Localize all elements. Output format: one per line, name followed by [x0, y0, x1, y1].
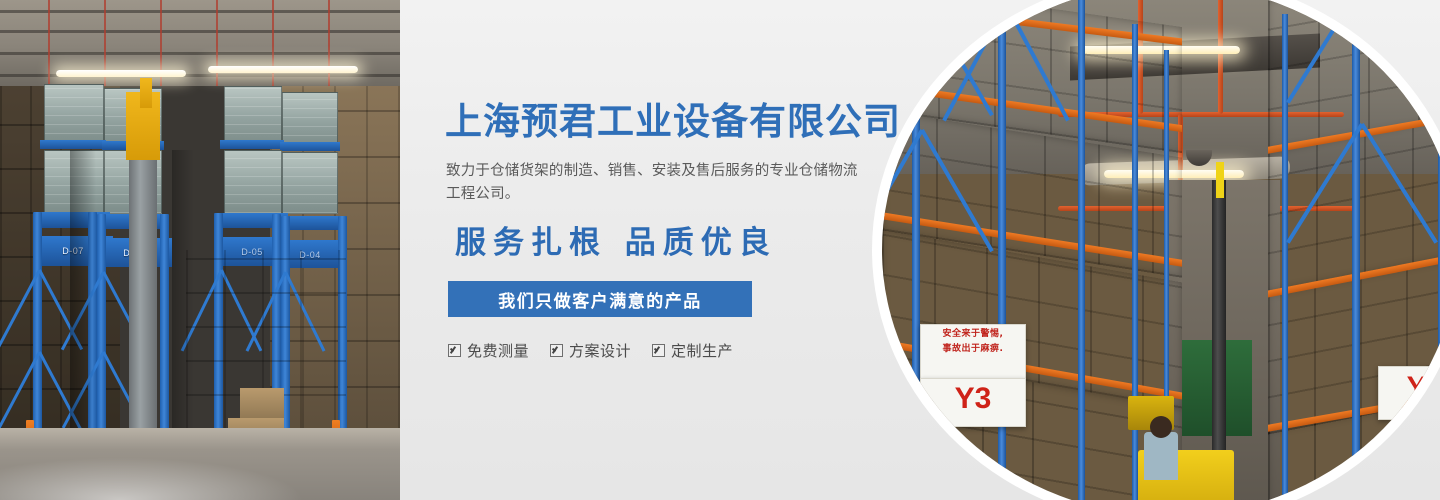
company-slogan: 服务扎根 品质优良	[455, 222, 777, 264]
ceiling-truss	[48, 0, 50, 86]
feature-item-custom-production: 定制生产	[652, 340, 733, 361]
rack-upright	[97, 214, 106, 440]
rack-upright	[33, 212, 42, 442]
feature-item-free-measure: 免费测量	[448, 340, 529, 361]
company-subtitle: 致力于仓储货架的制造、销售、安装及售后服务的专业仓储物流工程公司。	[446, 160, 866, 206]
stacked-crate	[224, 86, 282, 144]
feature-label: 免费测量	[467, 340, 529, 361]
ceiling-truss	[216, 0, 218, 86]
stacked-crate	[282, 92, 338, 146]
left-photo-floor-reflection	[0, 428, 400, 500]
stacker-crane-arm	[140, 78, 152, 108]
stacked-crate	[224, 150, 282, 214]
aisle-shadow	[172, 150, 194, 440]
ceiling-truss	[328, 0, 330, 86]
safety-sign: 安全来于警惕, 事故出于麻痹.	[920, 324, 1026, 380]
ceiling-beam	[0, 30, 400, 33]
forklift-mast	[1212, 180, 1226, 480]
rack-upright	[1078, 0, 1085, 500]
stacked-crate	[282, 152, 338, 214]
aisle-code-y3-right: Y3	[1379, 373, 1440, 403]
feature-list: 免费测量 方案设计 定制生产	[448, 340, 733, 361]
banner-content: 上海预君工业设备有限公司 致力于仓储货架的制造、销售、安装及售后服务的专业仓储物…	[445, 0, 915, 500]
pallet-beam	[280, 142, 340, 151]
forklift-mast-top	[1216, 162, 1224, 198]
checkbox-checked-icon	[652, 344, 665, 357]
aisle-shadow	[70, 150, 96, 440]
forklift-driver-head	[1150, 416, 1172, 438]
sprinkler-riser	[1218, 0, 1223, 114]
safety-sign-line-2: 事故出于麻痹.	[921, 340, 1025, 355]
rack-upright	[1352, 0, 1360, 500]
cta-button[interactable]: 我们只做客户满意的产品	[448, 281, 752, 317]
ceiling-light	[208, 66, 358, 73]
ceiling-beam	[0, 52, 400, 55]
left-warehouse-photo: D-07 D-06 D-05 D-04	[0, 0, 400, 500]
ceiling-truss	[272, 0, 274, 86]
aisle-code-sign: Y3	[920, 378, 1026, 427]
rack-upright	[1282, 14, 1288, 500]
forklift-driver-body	[1144, 432, 1178, 480]
checkbox-checked-icon	[448, 344, 461, 357]
ceiling-beam	[0, 10, 400, 13]
pallet-beam	[40, 140, 106, 149]
feature-label: 方案设计	[569, 340, 631, 361]
safety-sign-line-1: 安全来于警惕,	[921, 325, 1025, 340]
aisle-code-sign-right: Y3	[1378, 366, 1440, 420]
ceiling-light	[56, 70, 186, 77]
right-photo-wrapper: 安全来于警惕, 事故出于麻痹. Y3 Y3	[900, 0, 1440, 500]
feature-item-plan-design: 方案设计	[550, 340, 631, 361]
stacked-crate	[44, 84, 104, 144]
right-warehouse-photo: 安全来于警惕, 事故出于麻痹. Y3 Y3	[882, 0, 1440, 500]
pallet-beam	[220, 140, 284, 149]
aisle-code-y3: Y3	[921, 384, 1025, 414]
company-title: 上海预君工业设备有限公司	[445, 100, 901, 144]
feature-label: 定制生产	[671, 340, 733, 361]
stacker-crane-mast	[129, 150, 157, 450]
checkbox-checked-icon	[550, 344, 563, 357]
rack-upright	[160, 214, 169, 440]
hero-banner: D-07 D-06 D-05 D-04	[0, 0, 1440, 500]
